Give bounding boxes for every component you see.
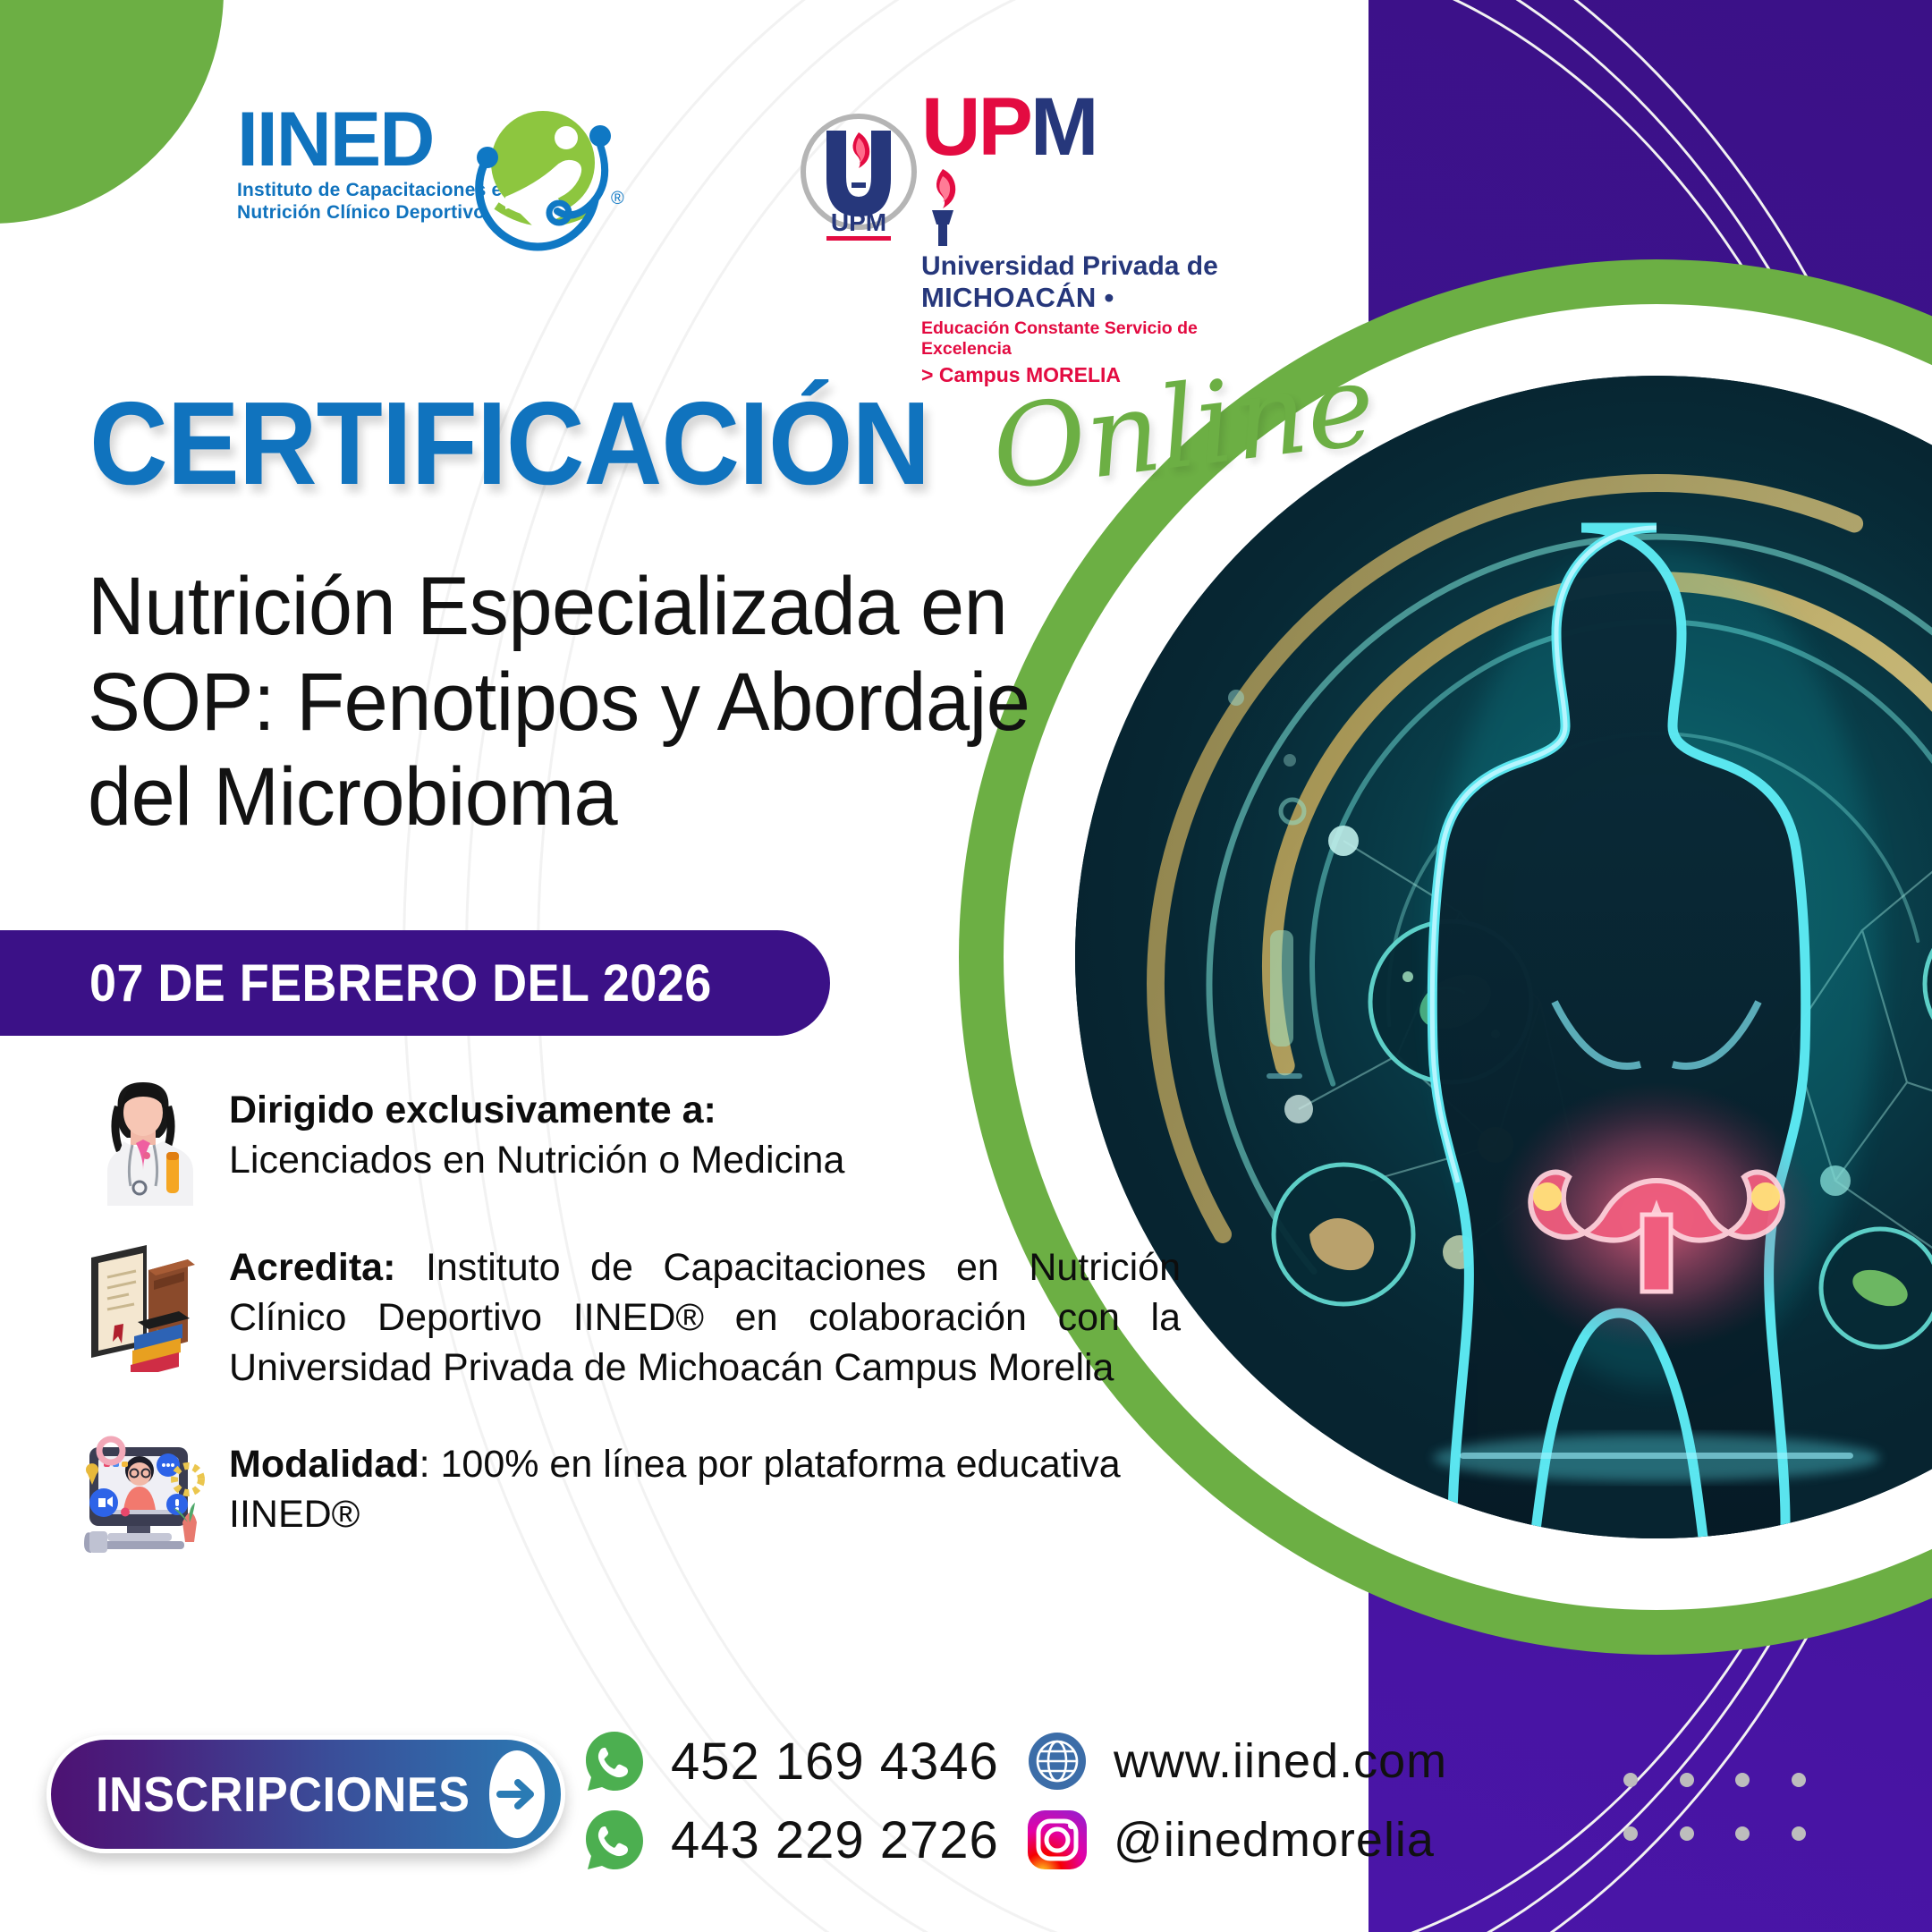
info-item-modality: Modalidad: 100% en línea por plataforma … bbox=[72, 1424, 1181, 1558]
info-item-audience: Dirigido exclusivamente a: Licenciados e… bbox=[72, 1073, 1181, 1207]
upm-letter-u: U bbox=[921, 89, 978, 165]
online-class-monitor-icon bbox=[72, 1424, 215, 1558]
info-item-accreditation: Acredita: Instituto de Capacitaciones en… bbox=[72, 1238, 1181, 1394]
web-contact-block: www.iined.com bbox=[1024, 1722, 1489, 1879]
upm-logo: UPM UPM Universidad Privada de MICHOACÁN… bbox=[787, 89, 1288, 295]
logo-row: IINED Instituto de Capacitaciones en Nut… bbox=[0, 89, 1342, 295]
hero-image-circle bbox=[1075, 376, 1932, 1538]
website-url: www.iined.com bbox=[1114, 1733, 1447, 1789]
course-subtitle: Nutrición Especializada en SOP: Fenotipo… bbox=[88, 559, 1101, 845]
date-badge-label: 07 DE FEBRERO DEL 2026 bbox=[89, 953, 712, 1013]
svg-text:®: ® bbox=[611, 189, 624, 208]
upm-seal-text: UPM bbox=[831, 208, 886, 236]
whatsapp-icon bbox=[581, 1728, 648, 1794]
inscripciones-button-label: INSCRIPCIONES bbox=[96, 1766, 470, 1823]
date-badge: 07 DE FEBRERO DEL 2026 bbox=[0, 930, 830, 1036]
upm-line-2: MICHOACÁN • bbox=[921, 282, 1279, 314]
upm-line-3: Educación Constante Servicio de Excelenc… bbox=[921, 318, 1279, 360]
upm-line-1: Universidad Privada de bbox=[921, 251, 1279, 282]
info-item-accreditation-label: Acredita: bbox=[229, 1246, 395, 1289]
contact-row-website[interactable]: www.iined.com bbox=[1024, 1722, 1489, 1801]
info-item-modality-text: Modalidad: 100% en línea por plataforma … bbox=[229, 1424, 1181, 1540]
info-item-audience-body: Licenciados en Nutrición o Medicina bbox=[229, 1139, 844, 1182]
whatsapp-number-2: 443 229 2726 bbox=[671, 1810, 999, 1870]
page-title: CERTIFICACIÓN bbox=[89, 376, 929, 511]
inscripciones-button[interactable]: INSCRIPCIONES bbox=[47, 1735, 565, 1853]
info-item-audience-label: Dirigido exclusivamente a: bbox=[229, 1089, 716, 1131]
poster-canvas: IINED Instituto de Capacitaciones en Nut… bbox=[0, 0, 1932, 1932]
arrow-right-icon bbox=[489, 1750, 545, 1838]
instagram-handle: @iinedmorelia bbox=[1114, 1812, 1435, 1868]
diploma-books-icon bbox=[72, 1238, 215, 1372]
info-item-modality-label: Modalidad bbox=[229, 1443, 419, 1486]
upm-text-block: UPM Universidad Privada de MICHOACÁN • E… bbox=[921, 89, 1279, 387]
iined-runner-emblem: ® bbox=[461, 98, 631, 268]
decorative-dot-grid bbox=[1603, 1753, 1826, 1860]
upm-letter-p: P bbox=[978, 89, 1030, 165]
instagram-icon bbox=[1024, 1807, 1090, 1873]
whatsapp-number-1: 452 169 4346 bbox=[671, 1732, 999, 1792]
info-list: Dirigido exclusivamente a: Licenciados e… bbox=[72, 1073, 1181, 1589]
upm-wordmark: UPM bbox=[921, 89, 1279, 248]
upm-torch-emblem: UPM bbox=[787, 106, 930, 249]
info-item-audience-text: Dirigido exclusivamente a: Licenciados e… bbox=[229, 1073, 1181, 1186]
globe-icon bbox=[1024, 1728, 1090, 1794]
upm-letter-m: M bbox=[1030, 89, 1097, 165]
contact-row-instagram[interactable]: @iinedmorelia bbox=[1024, 1801, 1489, 1879]
upm-small-torch-icon bbox=[921, 165, 964, 248]
whatsapp-icon bbox=[581, 1807, 648, 1873]
female-silhouette-microbiome-illustration bbox=[1075, 376, 1932, 1538]
info-item-accreditation-text: Acredita: Instituto de Capacitaciones en… bbox=[229, 1238, 1181, 1394]
iined-logo: IINED Instituto de Capacitaciones en Nut… bbox=[237, 106, 613, 267]
female-doctor-icon bbox=[72, 1073, 215, 1207]
